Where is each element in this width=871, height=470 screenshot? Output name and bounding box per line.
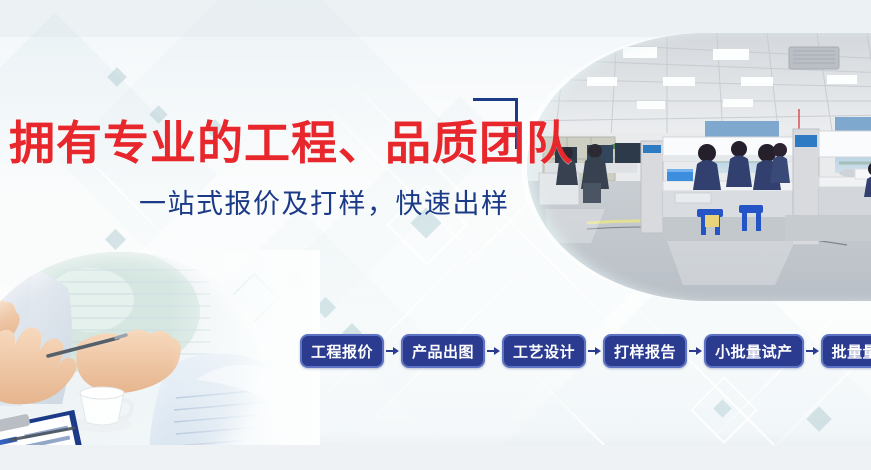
- arrow-right-icon: [687, 346, 704, 356]
- top-light-band: [0, 0, 871, 37]
- arrow-right-icon: [485, 346, 502, 356]
- process-step-3[interactable]: 工艺设计: [502, 334, 586, 368]
- workshop-photo-art: [527, 33, 871, 301]
- process-step-4[interactable]: 打样报告: [603, 334, 687, 368]
- process-steps: 工程报价 产品出图 工艺设计 打样报告 小批量试产 批量量产: [300, 334, 871, 368]
- arrow-right-icon: [804, 346, 821, 356]
- bottom-light-band: [0, 445, 871, 470]
- promo-banner: 拥有专业的工程、品质团队 一站式报价及打样，快速出样 工程报价 产品出图 工艺设…: [0, 0, 871, 470]
- process-step-1[interactable]: 工程报价: [300, 334, 384, 368]
- arrow-right-icon: [586, 346, 603, 356]
- process-step-6[interactable]: 批量量产: [821, 334, 871, 368]
- workshop-photo: [527, 33, 871, 301]
- page-title: 拥有专业的工程、品质团队: [9, 116, 573, 170]
- page-subtitle: 一站式报价及打样，快速出样: [139, 182, 510, 221]
- process-step-2[interactable]: 产品出图: [401, 334, 485, 368]
- arrow-right-icon: [384, 346, 401, 356]
- process-step-5[interactable]: 小批量试产: [704, 334, 804, 368]
